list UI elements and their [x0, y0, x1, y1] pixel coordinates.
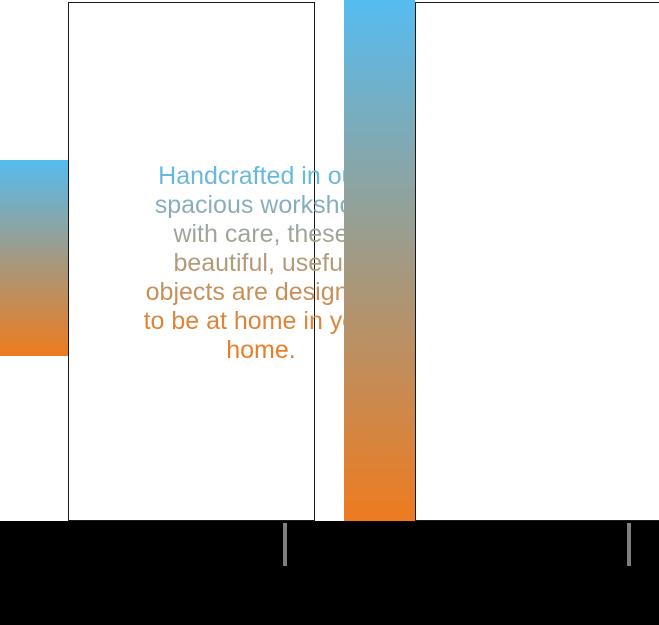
canvas-stage: Handcrafted in our spacious workshop wit…: [0, 0, 659, 521]
bottom-black-bar: [0, 521, 659, 625]
tick-mark-1: [283, 523, 287, 566]
card-left: Handcrafted in our spacious workshop wit…: [68, 2, 315, 521]
card-right: Handcrafted in our spacious workshop wit…: [415, 2, 659, 521]
gradient-swatch-right: [344, 0, 415, 521]
tick-mark-2: [627, 523, 631, 566]
gradient-swatch-left: [0, 160, 68, 356]
